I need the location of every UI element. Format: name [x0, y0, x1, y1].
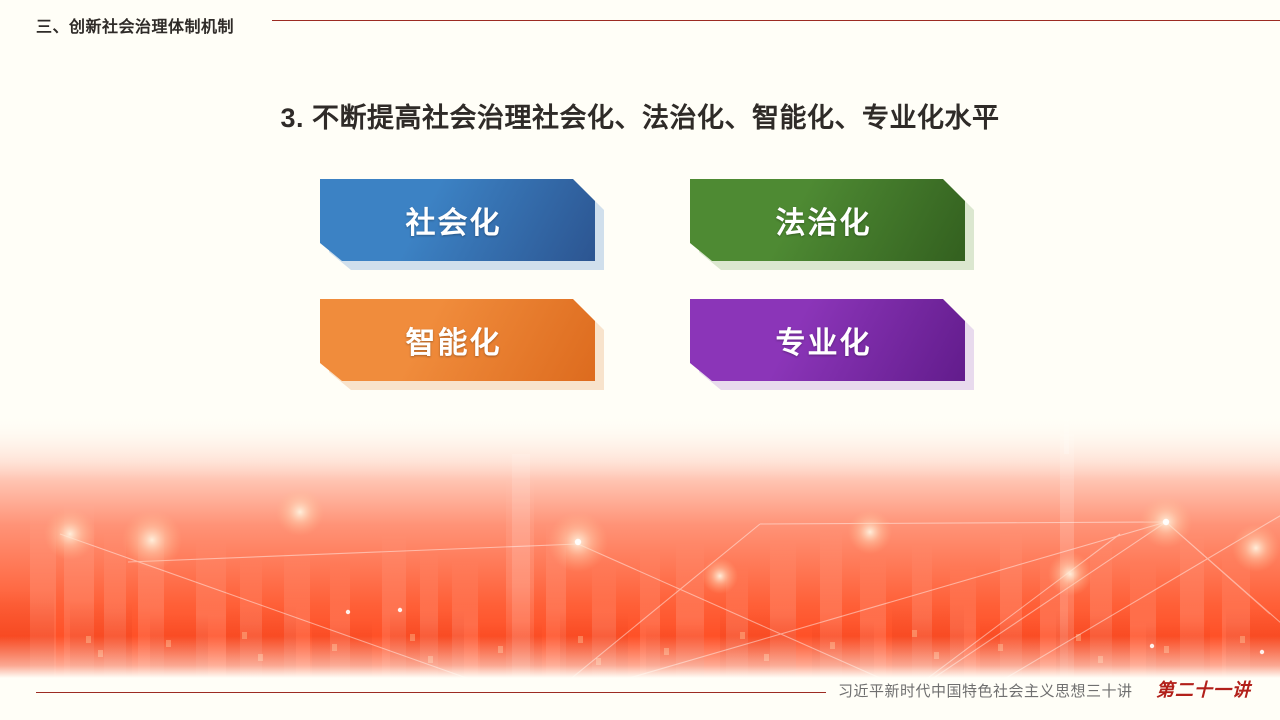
- slide-root: 三、创新社会治理体制机制 3. 不断提高社会治理社会化、法治化、智能化、专业化水…: [0, 0, 1280, 720]
- concept-box-fazhihua[interactable]: 法治化: [690, 179, 965, 261]
- concept-box-group: 社会化 法治化 智能化 专业化: [0, 0, 1280, 430]
- box-face-fazhihua: 法治化: [690, 179, 965, 261]
- concept-box-zhuanyehua[interactable]: 专业化: [690, 299, 965, 381]
- box-label-zhinenghua: 智能化: [406, 318, 502, 362]
- city-skyline-artwork: [0, 414, 1280, 678]
- footer-divider: [36, 692, 826, 693]
- box-face-shehuihua: 社会化: [320, 179, 595, 261]
- box-label-shehuihua: 社会化: [406, 198, 502, 242]
- concept-box-shehuihua[interactable]: 社会化: [320, 179, 595, 261]
- footer-series-title: 习近平新时代中国特色社会主义思想三十讲: [838, 680, 1133, 701]
- box-label-fazhihua: 法治化: [776, 198, 872, 242]
- city-skyline-svg: [0, 414, 1280, 678]
- box-face-zhinenghua: 智能化: [320, 299, 595, 381]
- box-label-zhuanyehua: 专业化: [776, 318, 872, 362]
- footer-lecture-number: 第二十一讲: [1156, 676, 1251, 702]
- box-face-zhuanyehua: 专业化: [690, 299, 965, 381]
- concept-box-zhinenghua[interactable]: 智能化: [320, 299, 595, 381]
